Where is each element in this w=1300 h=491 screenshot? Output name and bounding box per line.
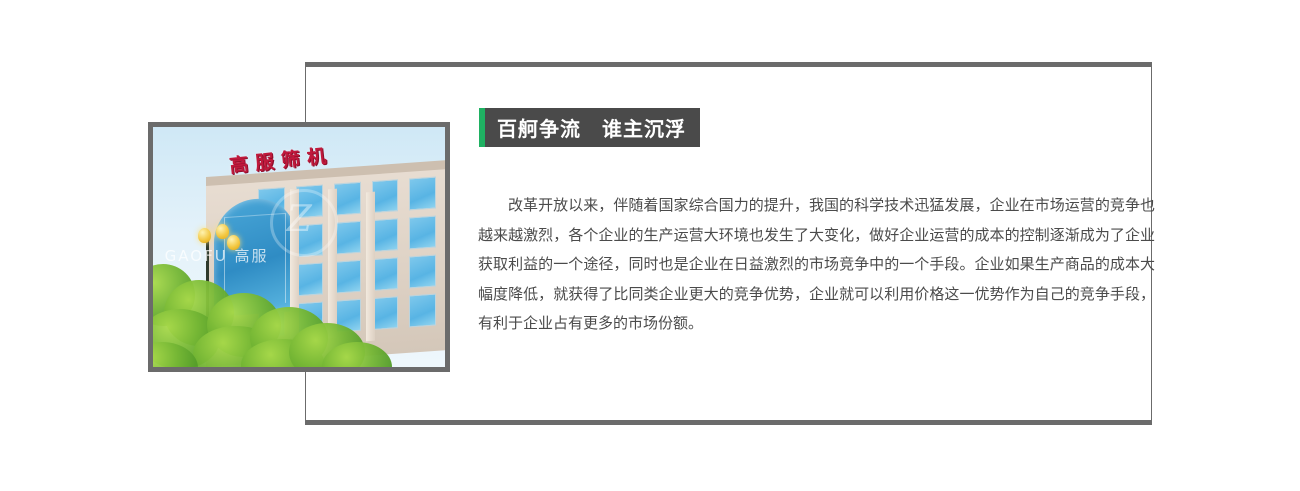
panel-border-top <box>305 62 1152 67</box>
photo-lamp-globe <box>216 224 229 239</box>
article-body-text: 改革开放以来，伴随着国家综合国力的提升，我国的科学技术迅猛发展，企业在市场运营的… <box>478 191 1155 339</box>
panel-border-bottom <box>305 420 1152 425</box>
photo-lamp-globe <box>198 228 211 243</box>
page-title: 百舸争流 谁主沉浮 <box>497 113 686 142</box>
photo-foliage <box>153 242 375 367</box>
company-building-photo: 高服筛机 GAOFU 高服 <box>148 122 450 372</box>
article-title-bar: 百舸争流 谁主沉浮 <box>479 108 700 147</box>
photo-image: 高服筛机 GAOFU 高服 <box>153 127 445 367</box>
